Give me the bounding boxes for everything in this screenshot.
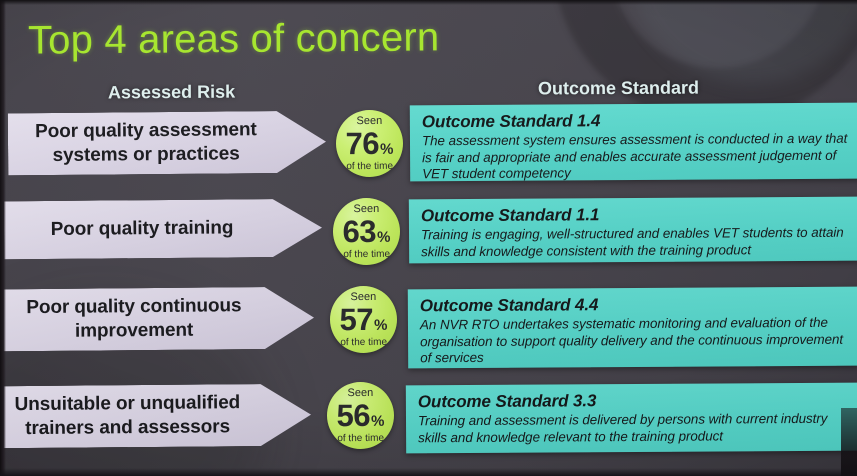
percent-number: 76 (345, 127, 379, 158)
percent-number: 63 (342, 215, 376, 246)
outcome-standard-panel: Outcome Standard 3.3 Training and assess… (406, 383, 857, 454)
percent-badge: Seen 76 % of the time (336, 110, 403, 177)
column-heading-outcome-standard: Outcome Standard (538, 78, 699, 100)
outcome-standard-panel: Outcome Standard 1.1 Training is engagin… (409, 197, 857, 264)
risk-arrow: Poor quality assessment systems or pract… (8, 111, 327, 176)
seen-label: Seen (350, 291, 376, 302)
percent-number: 56 (336, 399, 370, 430)
percent-badge: Seen 57 % of the time (330, 286, 397, 353)
screen-edge-left (0, 0, 6, 476)
outcome-standard-body: An NVR RTO undertakes systematic monitor… (420, 315, 848, 367)
outcome-standard-title: Outcome Standard 1.1 (421, 203, 849, 227)
of-the-time-label: of the time (343, 248, 390, 259)
screen-edge-right (841, 408, 857, 476)
percent-badge: Seen 56 % of the time (327, 382, 394, 449)
percent-value-line: 56 % (336, 399, 384, 430)
outcome-standard-panel: Outcome Standard 1.4 The assessment syst… (410, 103, 857, 182)
screen-edge-bottom (0, 468, 857, 476)
seen-label: Seen (353, 203, 379, 214)
risk-arrow: Poor quality training (4, 199, 322, 260)
percent-symbol: % (380, 141, 393, 156)
seen-label: Seen (347, 387, 373, 398)
percent-badge: Seen 63 % of the time (333, 198, 400, 265)
percent-symbol: % (374, 317, 387, 332)
of-the-time-label: of the time (340, 336, 387, 347)
screen-edge-top (0, 0, 857, 5)
of-the-time-label: of the time (346, 160, 393, 171)
slide-title: Top 4 areas of concern (28, 14, 440, 63)
risk-arrow: Poor quality continuous improvement (0, 287, 314, 352)
risk-label: Poor quality assessment systems or pract… (8, 118, 326, 169)
percent-number: 57 (339, 303, 373, 334)
presentation-slide: Top 4 areas of concern Assessed Risk Out… (0, 0, 857, 476)
outcome-standard-title: Outcome Standard 1.4 (422, 109, 850, 133)
percent-value-line: 76 % (345, 127, 393, 158)
seen-label: Seen (356, 115, 382, 126)
percent-value-line: 57 % (339, 303, 387, 334)
risk-arrow: Unsuitable or unqualified trainers and a… (0, 384, 311, 449)
column-heading-assessed-risk: Assessed Risk (108, 82, 235, 104)
outcome-standard-title: Outcome Standard 4.4 (420, 293, 848, 317)
percent-value-line: 63 % (342, 215, 390, 246)
risk-label: Unsuitable or unqualified trainers and a… (0, 391, 311, 442)
outcome-standard-body: The assessment system ensures assessment… (422, 131, 850, 182)
risk-label: Poor quality continuous improvement (0, 294, 314, 345)
percent-symbol: % (377, 229, 390, 244)
outcome-standard-body: Training and assessment is delivered by … (418, 411, 848, 447)
outcome-standard-panel: Outcome Standard 4.4 An NVR RTO undertak… (408, 287, 857, 369)
risk-label: Poor quality training (41, 216, 286, 242)
outcome-standard-title: Outcome Standard 3.3 (418, 389, 848, 413)
percent-symbol: % (371, 413, 384, 428)
outcome-standard-body: Training is engaging, well-structured an… (421, 225, 849, 261)
of-the-time-label: of the time (337, 432, 384, 443)
